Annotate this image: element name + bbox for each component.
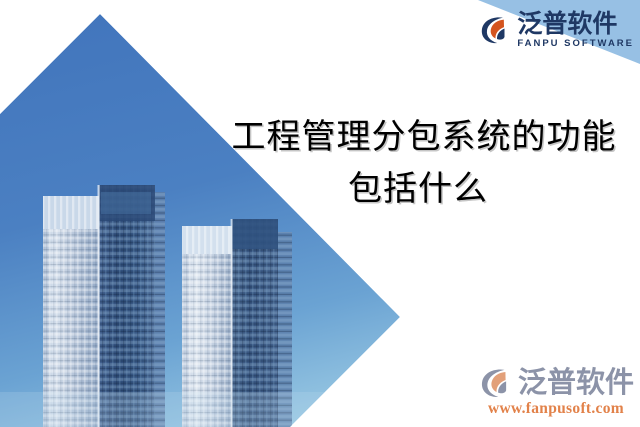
- watermark-brand-cn: 泛普软件: [518, 368, 634, 398]
- skyscraper-left: [43, 185, 165, 427]
- header-brand-logo: 泛普软件 FANPU SOFTWARE: [478, 11, 634, 49]
- title-line-2: 包括什么: [196, 164, 640, 216]
- fanpu-logo-mark-icon: [478, 15, 512, 45]
- fanpu-logo-mark-grey-icon: [478, 367, 514, 399]
- watermark-url: www.fanpusoft.com: [478, 400, 634, 418]
- diamond-clipped-scene: [0, 14, 440, 427]
- title-line-1: 工程管理分包系统的功能: [208, 112, 640, 164]
- watermark-brand-row: 泛普软件: [478, 367, 634, 399]
- slide-title: 工程管理分包系统的功能 包括什么: [196, 112, 640, 216]
- header-brand-text: 泛普软件 FANPU SOFTWARE: [517, 11, 634, 49]
- footer-watermark: 泛普软件 www.fanpusoft.com: [478, 367, 634, 418]
- header-brand-cn: 泛普软件: [517, 11, 617, 37]
- presentation-slide: 泛普软件 FANPU SOFTWARE 工程管理分包系统的功能 包括什么 泛普软…: [0, 0, 640, 427]
- header-brand-en: FANPU SOFTWARE: [517, 39, 634, 49]
